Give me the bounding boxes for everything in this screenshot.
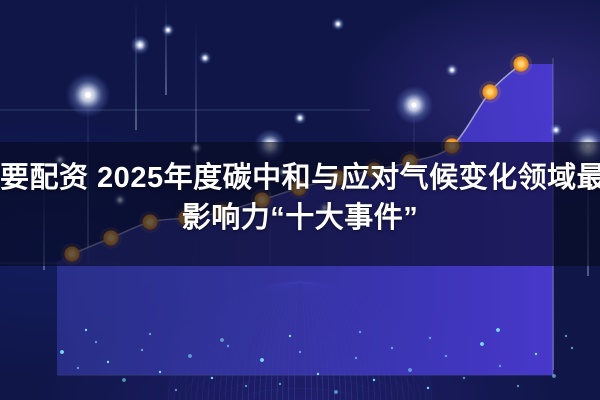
page-title-line-2: 影响力“十大事件” (0, 198, 600, 238)
hero-banner: 要配资 2025年度碳中和与应对气候变化领域最具 影响力“十大事件” (0, 0, 600, 400)
page-title: 要配资 2025年度碳中和与应对气候变化领域最具 影响力“十大事件” (0, 158, 600, 238)
page-title-line-1: 要配资 2025年度碳中和与应对气候变化领域最具 (0, 158, 600, 198)
